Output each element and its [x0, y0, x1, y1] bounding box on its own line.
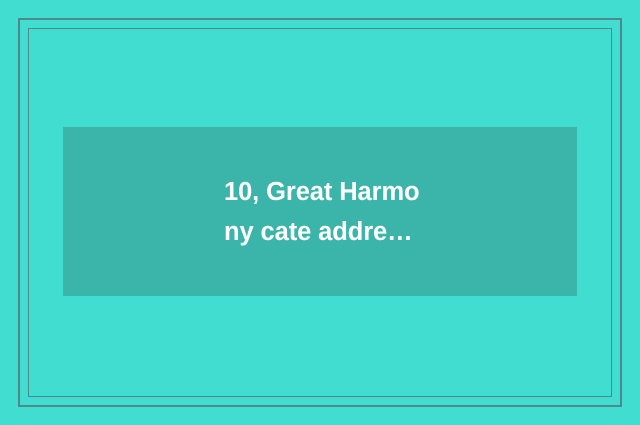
content-panel: 10, Great Harmony cate addre…	[63, 127, 577, 296]
placeholder-address-label: 10, Great Harmony cate addre…	[224, 172, 429, 252]
panel-text-box: 10, Great Harmony cate addre…	[224, 172, 429, 252]
placeholder-canvas: 10, Great Harmony cate addre…	[0, 0, 640, 425]
